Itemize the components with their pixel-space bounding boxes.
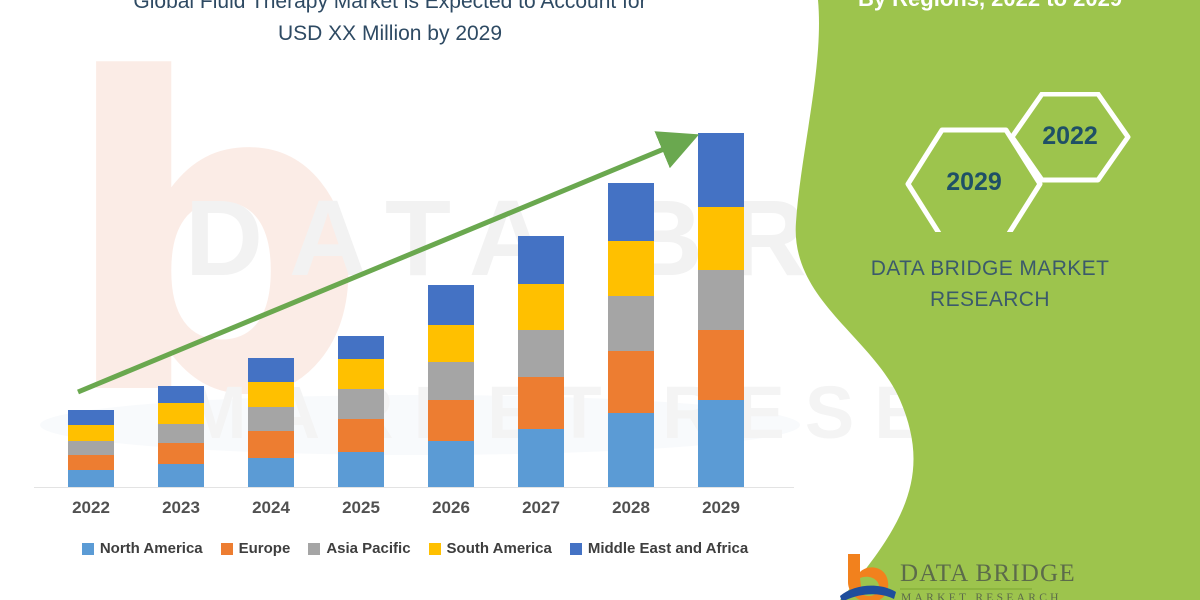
bar-segment: [698, 133, 744, 207]
bar-segment: [698, 330, 744, 400]
chart-title-line1: Global Fluid Therapy Market is Expected …: [40, 0, 740, 18]
bar-segment: [518, 236, 564, 284]
bar-2028: [608, 183, 654, 487]
x-axis-label-2022: 2022: [46, 498, 136, 518]
legend-swatch-icon: [221, 543, 233, 555]
bar-segment: [518, 330, 564, 377]
company-logo: DATA BRIDGE MARKET RESEARCH: [838, 552, 1198, 600]
bar-segment: [158, 386, 204, 403]
bar-segment: [68, 470, 114, 487]
bar-segment: [248, 358, 294, 382]
legend-item-south-america[interactable]: South America: [429, 540, 552, 557]
bar-segment: [608, 296, 654, 351]
bar-segment: [338, 336, 384, 359]
legend-swatch-icon: [570, 543, 582, 555]
bar-segment: [338, 452, 384, 487]
chart-title-line2: USD XX Million by 2029: [40, 18, 740, 50]
x-axis-line: [34, 487, 794, 488]
x-axis-label-2026: 2026: [406, 498, 496, 518]
bar-segment: [518, 429, 564, 487]
bar-segment: [428, 325, 474, 362]
legend-label: South America: [447, 540, 552, 557]
bar-segment: [338, 419, 384, 452]
right-green-panel: By Regions, 2022 to 2029 2022 2029 DATA …: [780, 0, 1200, 600]
bar-segment: [518, 377, 564, 429]
bar-segment: [698, 207, 744, 270]
legend-swatch-icon: [308, 543, 320, 555]
bar-segment: [698, 400, 744, 487]
hexagon-2029-label: 2029: [908, 168, 1040, 197]
legend-item-north-america[interactable]: North America: [82, 540, 203, 557]
bar-2027: [518, 236, 564, 487]
logo-underline: [900, 588, 1032, 590]
x-axis-label-2029: 2029: [676, 498, 766, 518]
legend-item-asia-pacific[interactable]: Asia Pacific: [308, 540, 410, 557]
bar-segment: [158, 403, 204, 424]
panel-subtitle: By Regions, 2022 to 2029: [790, 0, 1190, 14]
x-axis-label-2024: 2024: [226, 498, 316, 518]
x-axis-label-2025: 2025: [316, 498, 406, 518]
x-axis-label-2023: 2023: [136, 498, 226, 518]
bar-segment: [428, 441, 474, 487]
bar-segment: [428, 362, 474, 400]
bar-segment: [338, 389, 384, 419]
hexagon-2022-label: 2022: [1012, 122, 1128, 151]
bar-segment: [158, 464, 204, 487]
bar-segment: [158, 424, 204, 443]
bar-segment: [248, 431, 294, 458]
legend-label: Middle East and Africa: [588, 540, 748, 557]
legend-label: North America: [100, 540, 203, 557]
bar-2023: [158, 386, 204, 487]
chart-area: Global Fluid Therapy Market is Expected …: [0, 0, 800, 600]
bar-segment: [428, 285, 474, 325]
bar-segment: [248, 458, 294, 487]
chart-legend: North AmericaEuropeAsia PacificSouth Ame…: [30, 540, 800, 557]
bar-segment: [68, 441, 114, 455]
hexagon-badges: 2022 2029: [780, 92, 1200, 232]
legend-item-europe[interactable]: Europe: [221, 540, 291, 557]
bar-segment: [68, 425, 114, 441]
x-axis-label-2027: 2027: [496, 498, 586, 518]
logo-name: DATA BRIDGE: [900, 560, 1076, 588]
bar-2026: [428, 285, 474, 487]
bar-segment: [608, 183, 654, 241]
x-axis-label-2028: 2028: [586, 498, 676, 518]
bar-segment: [698, 270, 744, 330]
bar-2025: [338, 336, 384, 487]
brand-line1: DATA BRIDGE MARKET: [790, 253, 1190, 284]
logo-mark-icon: [838, 552, 898, 600]
brand-line2: RESEARCH: [790, 284, 1190, 315]
bar-segment: [158, 443, 204, 464]
bar-segment: [68, 455, 114, 470]
bar-segment: [68, 410, 114, 425]
bar-2022: [68, 410, 114, 487]
legend-swatch-icon: [429, 543, 441, 555]
bar-2029: [698, 133, 744, 487]
chart-title: Global Fluid Therapy Market is Expected …: [40, 0, 740, 50]
logo-tagline: MARKET RESEARCH: [901, 592, 1062, 600]
bar-segment: [248, 382, 294, 407]
legend-label: Europe: [239, 540, 291, 557]
bar-segment: [608, 351, 654, 413]
bar-2024: [248, 358, 294, 487]
legend-swatch-icon: [82, 543, 94, 555]
bar-segment: [428, 400, 474, 441]
bar-segment: [608, 241, 654, 296]
legend-item-middle-east-and-africa[interactable]: Middle East and Africa: [570, 540, 748, 557]
bar-segment: [518, 284, 564, 330]
bar-segment: [248, 407, 294, 431]
infographic-canvas: b DATA BRIDGE MARKET RESEARCH Global Flu…: [0, 0, 1200, 600]
legend-label: Asia Pacific: [326, 540, 410, 557]
brand-name: DATA BRIDGE MARKET RESEARCH: [790, 253, 1190, 315]
bar-segment: [608, 413, 654, 487]
bar-segment: [338, 359, 384, 389]
